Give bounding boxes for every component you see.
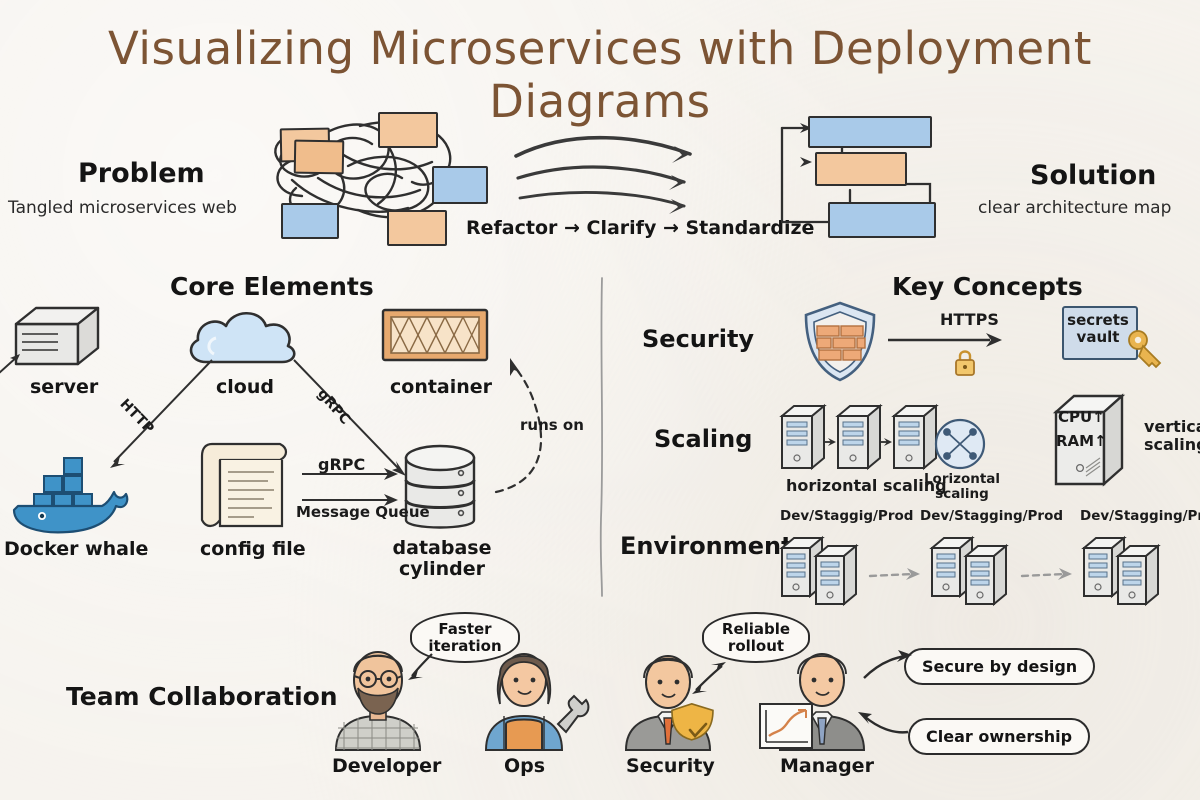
lock-icon xyxy=(952,348,978,378)
solution-box-middle xyxy=(815,152,907,186)
vertical-scaling-label-text: vertical scaling xyxy=(1144,417,1200,454)
solution-box-bottom xyxy=(828,202,936,238)
key-icon xyxy=(1124,328,1170,370)
arrow-to-secure-by-design xyxy=(862,648,918,684)
vertical-scaling-label: vertical scaling xyxy=(1144,418,1200,454)
secrets-vault-label-text: secrets vault xyxy=(1067,311,1129,346)
shield-firewall-icon xyxy=(802,300,878,384)
core-label-docker: Docker whale xyxy=(4,538,148,560)
problem-box-3 xyxy=(378,112,438,148)
env-stage-label-2: Dev/Stagging/Prod xyxy=(920,508,1063,524)
env-stage-label-1: Dev/Staggig/Prod xyxy=(780,508,913,524)
solution-box-top xyxy=(808,116,932,148)
team-label-developer: Developer xyxy=(332,755,441,777)
key-concepts-row-label-scaling: Scaling xyxy=(654,425,752,453)
problem-box-5 xyxy=(281,203,339,239)
vertical-scaling-cpu-label: CPU↑ xyxy=(1058,408,1105,426)
team-label-ops: Ops xyxy=(504,755,545,777)
edge-label-grpc-config: gRPC xyxy=(318,455,365,474)
arrow-from-clear-ownership xyxy=(852,704,914,742)
problem-subtitle: Tangled microservices web xyxy=(8,198,237,218)
column-divider xyxy=(594,278,610,598)
diagram-canvas: Visualizing Microservices with Deploymen… xyxy=(0,0,1200,800)
edge-docker-cloud xyxy=(100,350,220,480)
network-node-icon xyxy=(930,416,992,474)
network-scaling-label: Lorizontal scaling xyxy=(922,472,1002,502)
https-arrow xyxy=(886,328,1010,352)
key-concepts-row-label-security: Security xyxy=(642,325,754,353)
environment-server-pairs xyxy=(778,524,1198,608)
transition-arrows xyxy=(512,126,722,226)
solution-subtitle: clear architecture map xyxy=(978,198,1171,218)
problem-heading-text: Problem xyxy=(78,158,205,189)
edge-label-runs-on: runs on xyxy=(520,416,584,434)
callout-secure-by-design: Secure by design xyxy=(904,648,1095,685)
core-elements-heading: Core Elements xyxy=(170,272,374,301)
arrow-security-manager xyxy=(690,660,730,696)
env-stage-label-3: Dev/Stagging/Prod xyxy=(1080,508,1200,524)
core-label-config: config file xyxy=(200,538,306,560)
team-label-manager: Manager xyxy=(780,755,874,777)
vertical-scaling-ram-label: RAM↑ xyxy=(1056,432,1107,450)
callout-tail-faster-iteration xyxy=(406,650,440,684)
callout-clear-ownership: Clear ownership xyxy=(908,718,1090,755)
network-scaling-label-text: Lorizontal scaling xyxy=(924,471,1000,502)
key-concepts-heading: Key Concepts xyxy=(892,272,1083,301)
team-collaboration-heading: Team Collaboration xyxy=(66,682,338,711)
core-label-database: database cylinder xyxy=(382,538,502,581)
edge-label-message-queue: Message Queue xyxy=(296,503,430,521)
core-label-server: server xyxy=(30,376,98,398)
page-title: Visualizing Microservices with Deploymen… xyxy=(0,22,1200,128)
core-label-database-l1: database cylinder xyxy=(393,537,492,580)
core-label-cloud: cloud xyxy=(216,376,274,398)
problem-box-4 xyxy=(432,166,488,204)
chart-card xyxy=(760,704,812,748)
edge-label-https: HTTPS xyxy=(940,310,999,329)
problem-heading: Problem xyxy=(78,158,205,189)
team-label-security: Security xyxy=(626,755,715,777)
transition-caption: Refactor → Clarify → Standardize xyxy=(466,217,814,239)
problem-box-2 xyxy=(294,140,345,175)
horizontal-scaling-servers xyxy=(778,398,950,474)
incoming-arrow-server xyxy=(0,352,26,378)
problem-box-6 xyxy=(387,210,447,246)
solution-heading: Solution xyxy=(1030,160,1156,191)
